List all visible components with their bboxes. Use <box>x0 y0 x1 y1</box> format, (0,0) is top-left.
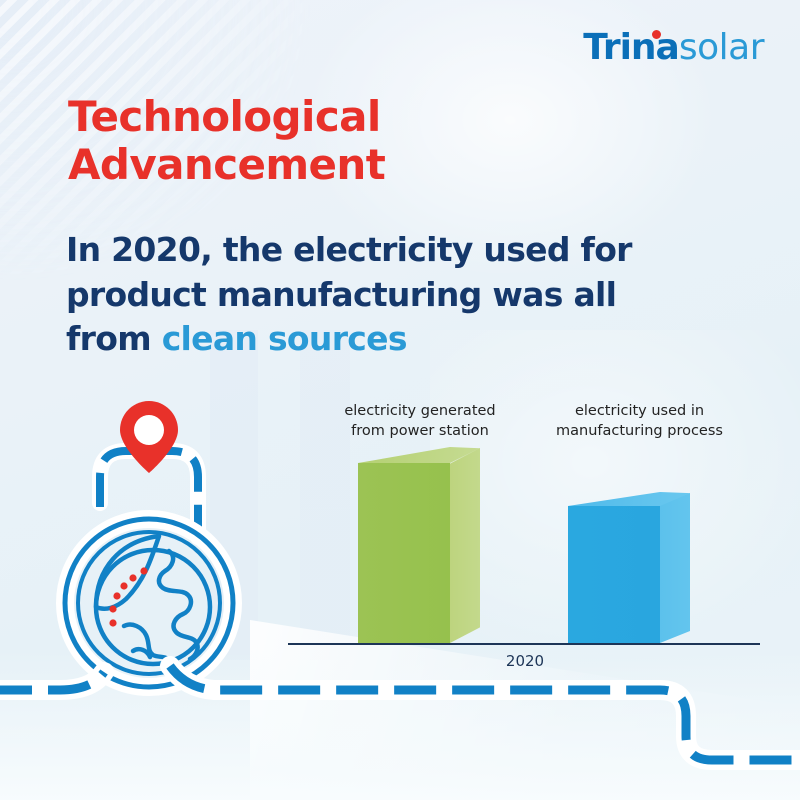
page-title: Technological Advancement <box>68 93 588 189</box>
subtitle-highlight: clean sources <box>162 319 407 358</box>
subtitle: In 2020, the electricity used for produc… <box>66 228 706 362</box>
logo-word-trina: Trina <box>583 27 679 68</box>
logo-word-solar: solar <box>679 27 764 68</box>
headline-line-1: Technological <box>68 93 588 141</box>
trina-solar-logo: Trinasolar <box>583 30 764 66</box>
road-casing <box>0 666 800 760</box>
map-pin-icon <box>120 401 178 473</box>
headline-line-2: Advancement <box>68 141 588 189</box>
dashed-road-path <box>0 600 800 800</box>
road-svg <box>0 600 800 800</box>
infographic-canvas: Trinasolar Technological Advancement In … <box>0 0 800 800</box>
series-label-used: electricity used in manufacturing proces… <box>542 402 737 441</box>
series-label-generated: electricity generated from power station <box>325 402 515 441</box>
